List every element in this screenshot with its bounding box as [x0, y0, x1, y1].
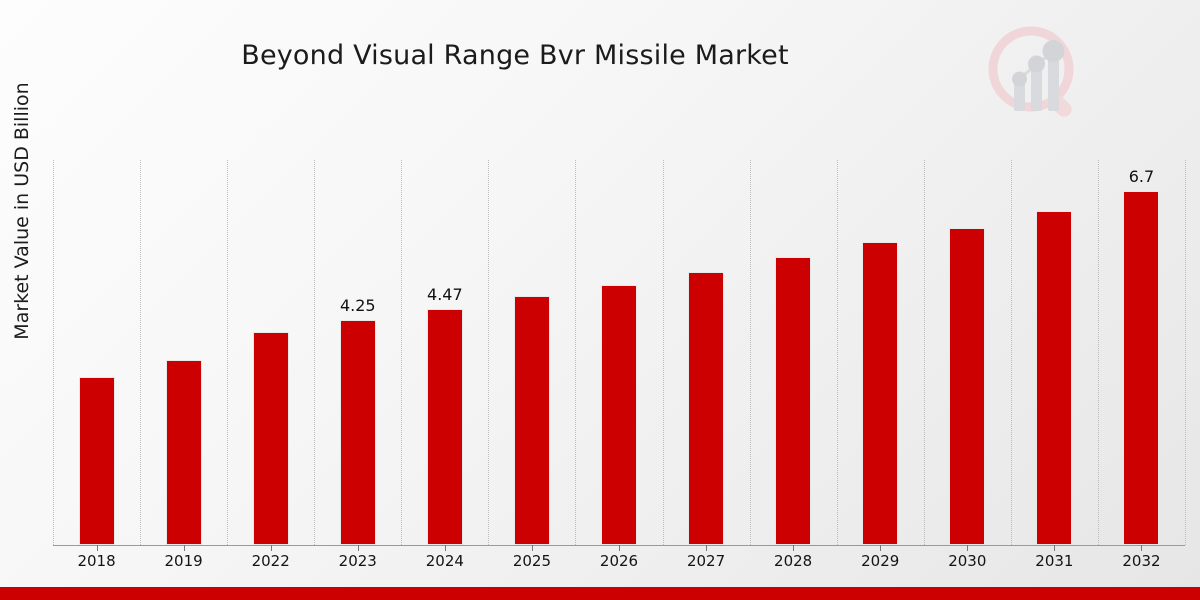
x-tick-label-2032: 2032: [1101, 552, 1181, 570]
gridline: [1185, 160, 1186, 545]
x-tick-label-2025: 2025: [492, 552, 572, 570]
x-tick-label-2024: 2024: [405, 552, 485, 570]
x-tick-mark-2029: [880, 545, 881, 551]
bar-2019[interactable]: [166, 360, 202, 545]
gridline: [53, 160, 54, 545]
x-tick-mark-2024: [445, 545, 446, 551]
x-tick-label-2026: 2026: [579, 552, 659, 570]
x-tick-mark-2032: [1141, 545, 1142, 551]
x-tick-mark-2028: [793, 545, 794, 551]
bar-2022[interactable]: [253, 332, 289, 545]
gridline: [924, 160, 925, 545]
bar-2024[interactable]: [427, 309, 463, 545]
x-tick-mark-2019: [184, 545, 185, 551]
magnifier-bar-chart-logo: [986, 22, 1084, 126]
x-tick-mark-2030: [967, 545, 968, 551]
bar-2029[interactable]: [862, 242, 898, 545]
bar-2028[interactable]: [775, 257, 811, 545]
y-axis-title: Market Value in USD Billion: [11, 1, 33, 421]
gridline: [401, 160, 402, 545]
bar-2023[interactable]: [340, 320, 376, 545]
x-tick-label-2023: 2023: [318, 552, 398, 570]
x-tick-mark-2022: [271, 545, 272, 551]
x-tick-mark-2025: [532, 545, 533, 551]
x-tick-label-2029: 2029: [840, 552, 920, 570]
gridline: [1011, 160, 1012, 545]
gridline: [663, 160, 664, 545]
x-tick-mark-2023: [358, 545, 359, 551]
chart-page: Beyond Visual Range Bvr Missile Market M…: [0, 0, 1200, 600]
gridline: [1098, 160, 1099, 545]
bar-2031[interactable]: [1036, 211, 1072, 545]
x-tick-label-2030: 2030: [927, 552, 1007, 570]
bar-2032[interactable]: [1123, 191, 1159, 545]
gridline: [837, 160, 838, 545]
bar-2025[interactable]: [514, 296, 550, 545]
x-tick-label-2031: 2031: [1014, 552, 1094, 570]
bar-2018[interactable]: [79, 377, 115, 545]
bar-2027[interactable]: [688, 272, 724, 545]
gridline: [227, 160, 228, 545]
x-tick-label-2022: 2022: [231, 552, 311, 570]
gridline: [140, 160, 141, 545]
gridline: [575, 160, 576, 545]
x-tick-mark-2031: [1054, 545, 1055, 551]
x-tick-mark-2018: [97, 545, 98, 551]
gridline: [488, 160, 489, 545]
x-tick-label-2018: 2018: [57, 552, 137, 570]
bar-2030[interactable]: [949, 228, 985, 545]
x-tick-label-2028: 2028: [753, 552, 833, 570]
x-tick-mark-2027: [706, 545, 707, 551]
gridline: [750, 160, 751, 545]
gridline: [314, 160, 315, 545]
bar-2026[interactable]: [601, 285, 637, 545]
x-tick-mark-2026: [619, 545, 620, 551]
footer-accent-band: [0, 587, 1200, 600]
x-tick-label-2019: 2019: [144, 552, 224, 570]
x-tick-label-2027: 2027: [666, 552, 746, 570]
